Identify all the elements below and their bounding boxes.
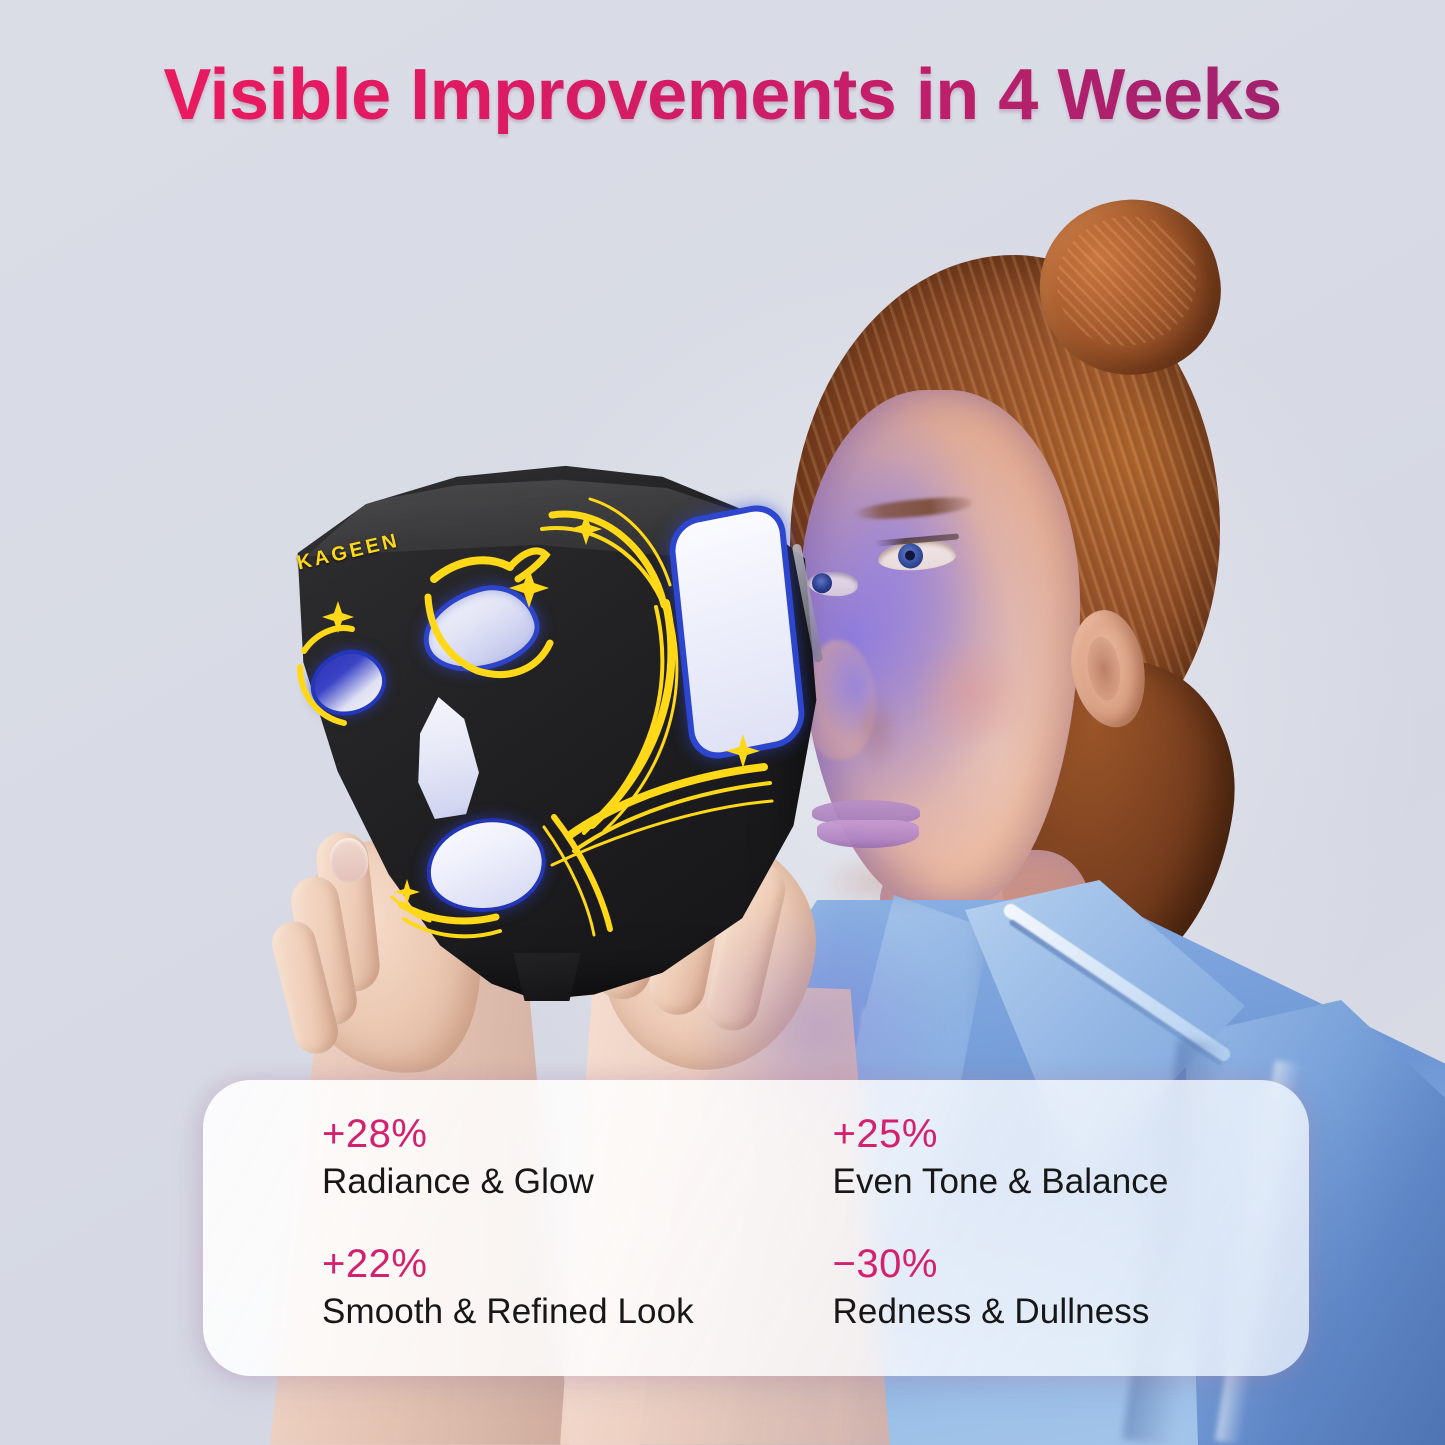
model-cheek bbox=[905, 640, 1035, 745]
stat-label: Redness & Dullness bbox=[833, 1292, 1310, 1332]
stat-label: Even Tone & Balance bbox=[833, 1162, 1310, 1202]
stat-value: +22% bbox=[322, 1244, 816, 1284]
stat-smooth-and-refined-look: +22% Smooth & Refined Look bbox=[322, 1244, 816, 1352]
stat-redness-and-dullness: −30% Redness & Dullness bbox=[816, 1244, 1310, 1352]
model-nose-shadow bbox=[855, 690, 899, 770]
results-stats-card: +28% Radiance & Glow +25% Even Tone & Ba… bbox=[203, 1080, 1309, 1376]
stat-value: −30% bbox=[833, 1244, 1310, 1284]
results-stats-grid: +28% Radiance & Glow +25% Even Tone & Ba… bbox=[203, 1080, 1309, 1376]
stat-label: Radiance & Glow bbox=[322, 1162, 816, 1202]
stat-value: +25% bbox=[833, 1114, 1310, 1154]
promo-image-stage: Visible Improvements in 4 Weeks Visible … bbox=[0, 0, 1445, 1445]
stat-radiance-and-glow: +28% Radiance & Glow bbox=[322, 1114, 816, 1222]
stat-value: +28% bbox=[322, 1114, 816, 1154]
model-lips bbox=[812, 800, 920, 852]
stat-label: Smooth & Refined Look bbox=[322, 1292, 816, 1332]
led-face-mask-device: KAGEEN bbox=[252, 455, 822, 1000]
stat-even-tone-and-balance: +25% Even Tone & Balance bbox=[816, 1114, 1310, 1222]
